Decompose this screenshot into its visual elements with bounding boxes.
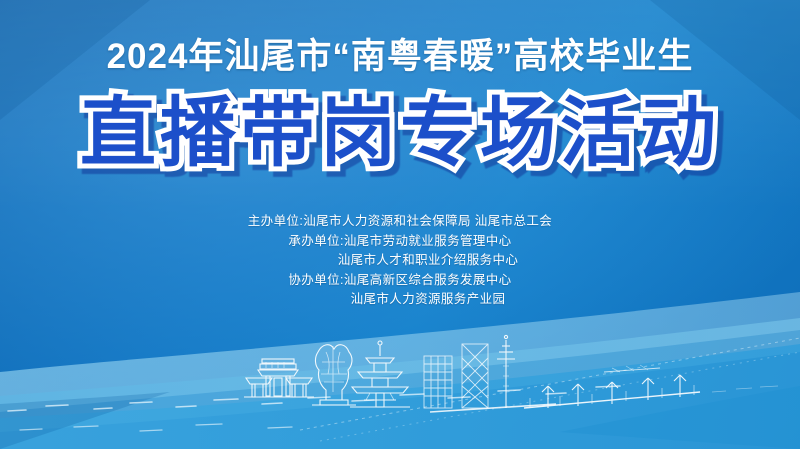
poster-main-title: 直播带岗专场活动 直播带岗专场活动 直播带岗专场活动	[80, 88, 720, 180]
poster-headline: 2024年汕尾市“南粤春暖”高校毕业生	[0, 36, 800, 78]
poster-content: 2024年汕尾市“南粤春暖”高校毕业生 直播带岗专场活动 直播带岗专场活动 直播…	[0, 0, 800, 449]
organizer-line: 汕尾市人才和职业介绍服务中心	[0, 251, 800, 271]
organizer-line: 承办单位:汕尾市劳动就业服务管理中心	[0, 232, 800, 252]
organizer-block: 主办单位:汕尾市人力资源和社会保障局 汕尾市总工会 承办单位:汕尾市劳动就业服务…	[0, 212, 800, 310]
organizer-line: 协办单位:汕尾高新区综合服务发展中心	[0, 271, 800, 291]
poster-canvas: 2024年汕尾市“南粤春暖”高校毕业生 直播带岗专场活动 直播带岗专场活动 直播…	[0, 0, 800, 449]
poster-main-title-wrap: 直播带岗专场活动 直播带岗专场活动 直播带岗专场活动	[0, 88, 800, 180]
main-title-fill-layer: 直播带岗专场活动	[80, 91, 720, 176]
organizer-line: 主办单位:汕尾市人力资源和社会保障局 汕尾市总工会	[0, 212, 800, 232]
organizer-line: 汕尾市人力资源服务产业园	[0, 290, 800, 310]
